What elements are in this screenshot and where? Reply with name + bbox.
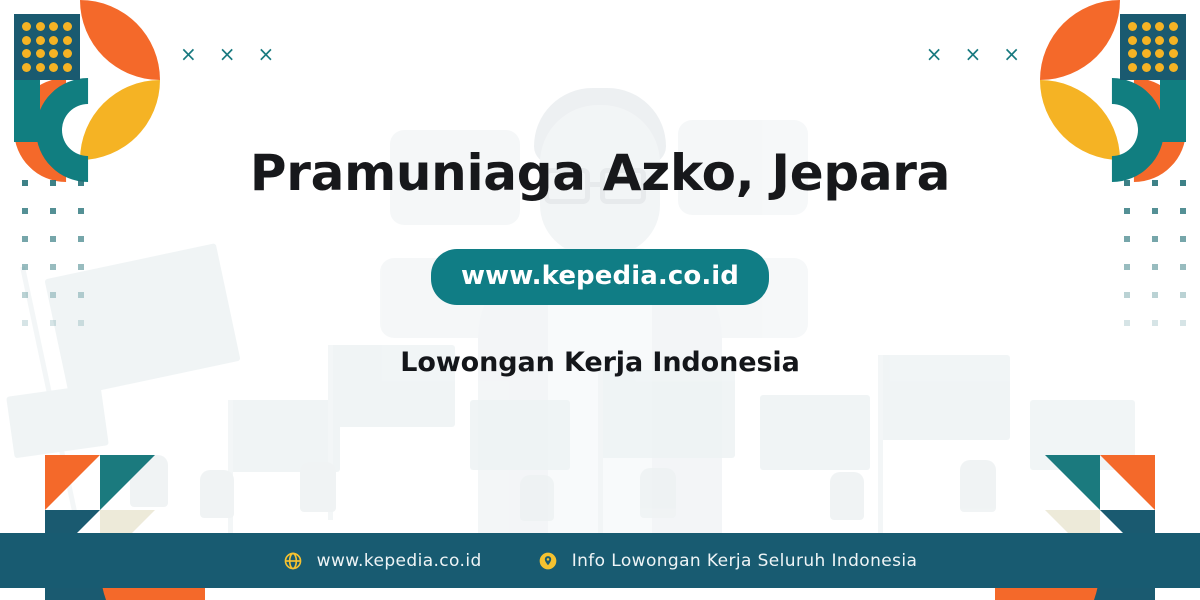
page-title: Pramuniaga Azko, Jepara — [250, 146, 950, 201]
banner-subtitle: Lowongan Kerja Indonesia — [400, 347, 799, 378]
footer-website-label: www.kepedia.co.id — [317, 551, 482, 571]
job-vacancy-banner: × × × × × × Pramuniaga Azko, Jepara www.… — [0, 0, 1200, 600]
banner-content: Pramuniaga Azko, Jepara www.kepedia.co.i… — [0, 0, 1200, 533]
footer-website-item[interactable]: www.kepedia.co.id — [283, 551, 482, 571]
location-pin-icon — [538, 551, 558, 571]
globe-icon — [283, 551, 303, 571]
website-pill-button[interactable]: www.kepedia.co.id — [431, 249, 769, 305]
footer-tagline-item[interactable]: Info Lowongan Kerja Seluruh Indonesia — [538, 551, 918, 571]
footer-bar: www.kepedia.co.id Info Lowongan Kerja Se… — [0, 533, 1200, 588]
footer-tagline-label: Info Lowongan Kerja Seluruh Indonesia — [572, 551, 918, 571]
